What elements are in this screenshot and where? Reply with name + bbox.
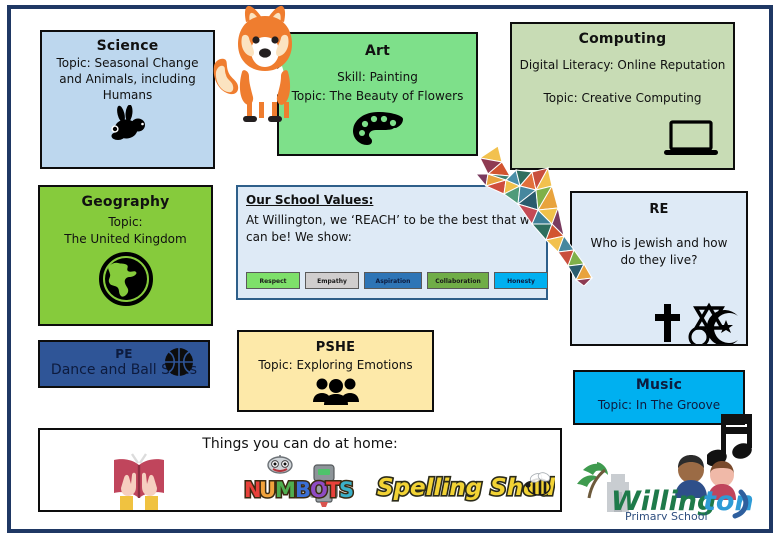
re-line-2: do they live? <box>572 252 746 269</box>
music-line-1: Topic: In The Groove <box>575 398 743 412</box>
subject-card-geography[interactable]: Geography Topic: The United Kingdom <box>38 185 213 326</box>
pshe-title: PSHE <box>239 340 432 355</box>
subject-card-pshe[interactable]: PSHE Topic: Exploring Emotions <box>237 330 434 412</box>
value-badge-respect[interactable]: Respect <box>246 272 300 289</box>
science-line-3: Humans <box>42 87 213 103</box>
re-line-1: Who is Jewish and how <box>572 235 746 252</box>
reading-book-icon <box>108 452 170 510</box>
music-title: Music <box>575 377 743 393</box>
subject-card-science[interactable]: Science Topic: Seasonal Change and Anima… <box>40 30 215 169</box>
globe-icon <box>40 251 211 307</box>
svg-text:U: U <box>259 478 276 502</box>
logo-subtitle: Primary School <box>625 510 708 520</box>
home-panel-title: Things you can do at home: <box>40 436 560 452</box>
fox-illustration <box>212 4 308 126</box>
people-group-icon <box>239 375 432 405</box>
value-badge-aspiration[interactable]: Aspiration <box>364 272 422 289</box>
pshe-line-1: Topic: Exploring Emotions <box>239 358 432 372</box>
art-title: Art <box>279 43 476 59</box>
science-title: Science <box>42 38 213 54</box>
svg-text:S: S <box>339 478 354 502</box>
rabbit-icon <box>42 105 213 145</box>
svg-text:B: B <box>295 478 311 502</box>
spelling-shed-logo[interactable]: Spelling Shed <box>375 470 555 504</box>
colorful-hand-illustration <box>476 128 594 286</box>
geography-line-2: The United Kingdom <box>40 231 211 248</box>
willington-school-logo: Willing ton Primary School <box>571 448 759 520</box>
re-title: RE <box>572 202 746 217</box>
subject-card-re[interactable]: RE Who is Jewish and how do they live? <box>570 191 748 346</box>
computing-line-1: Digital Literacy: Online Reputation <box>512 56 733 75</box>
computing-title: Computing <box>512 31 733 47</box>
curriculum-poster: Science Topic: Seasonal Change and Anima… <box>0 0 780 543</box>
value-badge-empathy[interactable]: Empathy <box>305 272 359 289</box>
laptop-icon <box>663 120 719 162</box>
svg-text:M: M <box>275 478 296 502</box>
art-line-2: Topic: The Beauty of Flowers <box>279 87 476 106</box>
paint-palette-icon <box>279 110 476 152</box>
computing-line-2: Topic: Creative Computing <box>512 89 733 108</box>
numbots-logo[interactable]: N U M B O T S <box>240 455 362 507</box>
science-line-2: and Animals, including <box>42 71 213 87</box>
geography-title: Geography <box>40 194 211 210</box>
faith-symbols-icon <box>652 290 744 346</box>
basketball-icon <box>164 347 194 381</box>
geography-line-1: Topic: <box>40 214 211 231</box>
subject-card-pe[interactable]: PE Dance and Ball Skills <box>38 340 210 388</box>
art-line-1: Skill: Painting <box>279 68 476 87</box>
science-line-1: Topic: Seasonal Change <box>42 55 213 71</box>
